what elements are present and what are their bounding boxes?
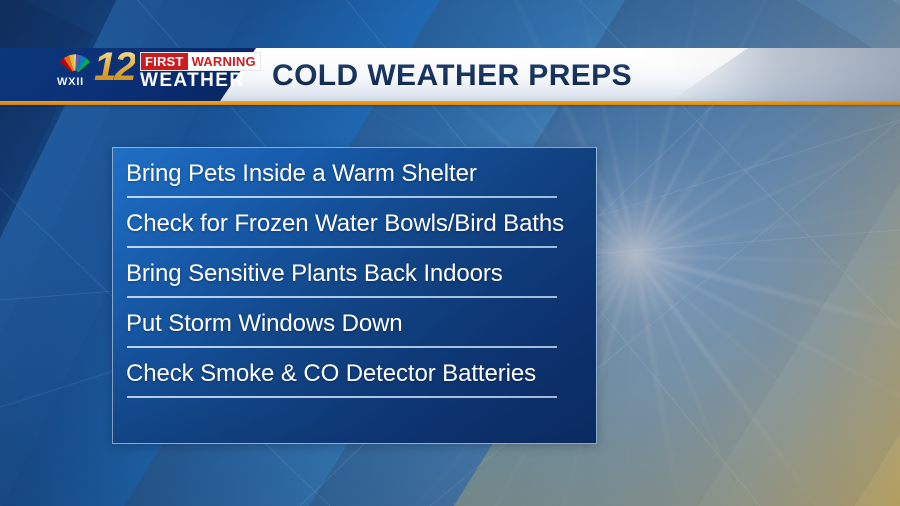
channel-number-logo: 12 [94,47,136,91]
preps-list: Bring Pets Inside a Warm ShelterCheck fo… [126,158,572,408]
brand-first: FIRST [141,53,188,70]
prep-item-divider [127,296,557,298]
prep-item-label: Bring Pets Inside a Warm Shelter [126,160,477,188]
brand-weather: WEATHER [140,70,244,91]
first-warning-badge: FIRST WARNING [140,52,261,71]
prep-item-divider [127,396,557,398]
brand-warning: WARNING [188,53,260,70]
prep-list-item: Check for Frozen Water Bowls/Bird Baths [126,208,572,258]
prep-list-item: Bring Pets Inside a Warm Shelter [126,158,572,208]
prep-list-item: Check Smoke & CO Detector Batteries [126,358,572,408]
station-call-letters: WXII [57,76,84,88]
prep-item-label: Put Storm Windows Down [126,310,403,338]
prep-item-divider [127,246,557,248]
preps-panel: Bring Pets Inside a Warm ShelterCheck fo… [112,147,597,444]
prep-item-label: Check for Frozen Water Bowls/Bird Baths [126,210,564,238]
prep-item-divider [127,346,557,348]
prep-item-label: Check Smoke & CO Detector Batteries [126,360,536,388]
prep-item-divider [127,196,557,198]
channel-number: 12 [94,45,135,90]
nbc-peacock-icon [60,52,90,78]
weather-graphic: COLD WEATHER PREPS WXII 12 FIRST WARNING… [0,0,900,506]
prep-item-label: Bring Sensitive Plants Back Indoors [126,260,503,288]
page-title: COLD WEATHER PREPS [272,59,632,93]
prep-list-item: Bring Sensitive Plants Back Indoors [126,258,572,308]
banner-rule-shadow [0,105,900,108]
prep-list-item: Put Storm Windows Down [126,308,572,358]
